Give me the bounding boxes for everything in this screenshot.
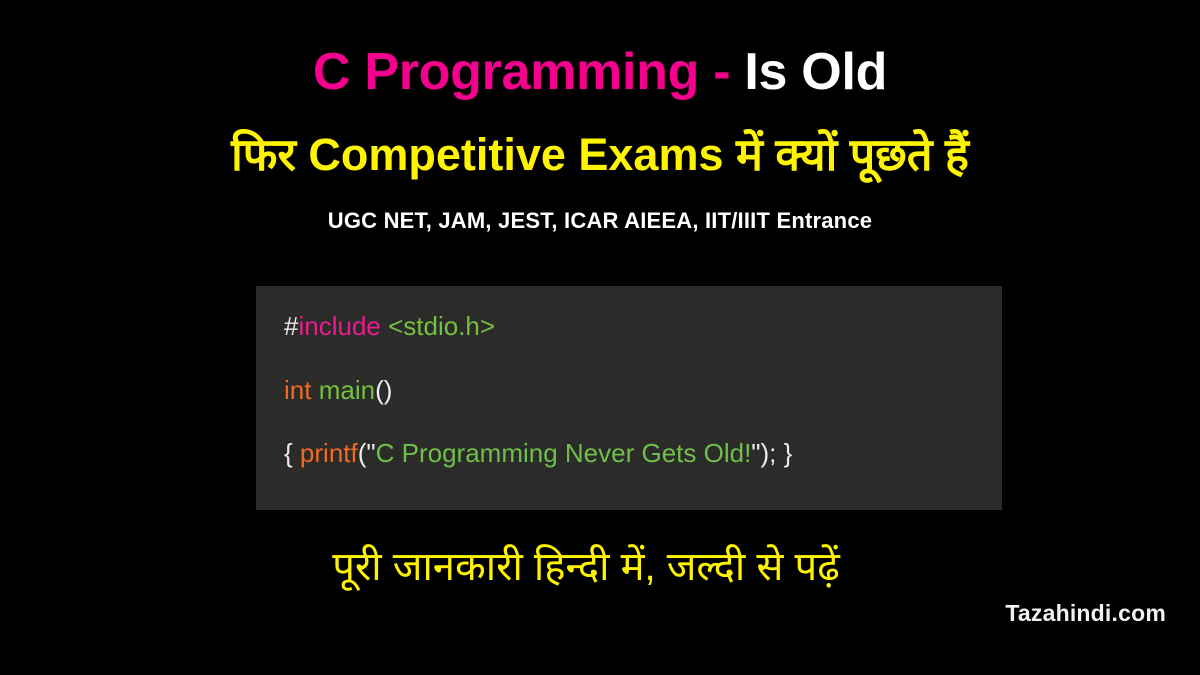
code-token-stdio: <stdio.h> <box>388 311 495 341</box>
code-token-close-brace: "); } <box>751 438 792 468</box>
code-token-open-quote: (" <box>358 438 376 468</box>
code-token-string-literal: C Programming Never Gets Old! <box>376 438 752 468</box>
page-title-plain: Is Old <box>744 43 887 101</box>
code-token-main: main <box>319 375 375 405</box>
code-token-open-brace: { <box>284 438 300 468</box>
exam-list-line: UGC NET, JAM, JEST, ICAR AIEEA, IIT/IIIT… <box>0 208 1200 234</box>
code-token-space-2 <box>311 375 318 405</box>
site-watermark: Tazahindi.com <box>1005 600 1166 627</box>
thumbnail-canvas: C Programming - Is Old फिर Competitive E… <box>0 0 1200 675</box>
subtitle-hindi: फिर Competitive Exams में क्यों पूछते है… <box>0 128 1200 182</box>
page-title: C Programming - Is Old <box>0 44 1200 100</box>
code-token-hash: # <box>284 311 298 341</box>
code-token-parens: () <box>375 375 392 405</box>
code-snippet-card: #include <stdio.h> int main() { printf("… <box>256 286 1002 510</box>
code-line-printf: { printf("C Programming Never Gets Old!"… <box>284 439 1002 468</box>
code-token-printf: printf <box>300 438 358 468</box>
code-token-include: include <box>298 311 380 341</box>
code-token-int: int <box>284 375 311 405</box>
page-title-accent: C Programming <box>313 43 699 101</box>
cta-hindi-text: पूरी जानकारी हिन्दी में, जल्दी से पढ़ें <box>0 542 1200 592</box>
code-line-include: #include <stdio.h> <box>284 312 1002 341</box>
code-line-main: int main() <box>284 376 1002 405</box>
page-title-dash: - <box>699 43 744 101</box>
